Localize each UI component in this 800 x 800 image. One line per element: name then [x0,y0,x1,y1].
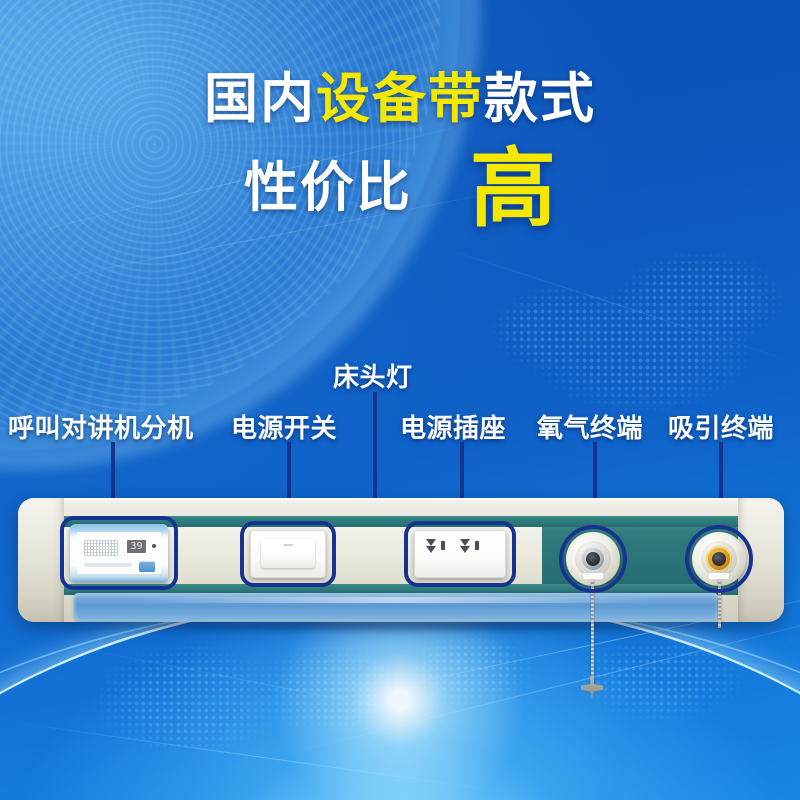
oxygen-pull-cord[interactable] [591,580,594,690]
headline-part-1: 国内 [204,69,316,129]
highlight-box-power-switch [240,521,336,587]
bed-lamp-diffuser-strip[interactable] [74,593,718,621]
highlight-box-power-socket [404,521,516,587]
headline-block: 国内设备带款式 性价比高 [0,72,800,232]
callout-label-bed-lamp: 床头灯 [333,357,413,394]
headline-subtext: 性价比 [244,158,412,218]
highlight-circle-oxygen [559,525,627,593]
highlight-box-intercom [60,516,178,590]
headline-part-2: 设备带 [316,69,484,129]
banner-canvas: 国内设备带款式 性价比高 呼叫对讲机分机电源开关床头灯电源插座氧气终端吸引终端 … [0,0,800,800]
callout-label-power-switch: 电源开关 [231,408,337,445]
panel-left-end-cap [18,498,64,622]
headline-accent-word: 高 [470,141,556,237]
callout-label-nurse-call-intercom: 呼叫对讲机分机 [8,408,194,445]
callout-label-power-socket: 电源插座 [400,408,506,445]
callout-label-oxygen-terminal: 氧气终端 [537,408,643,445]
headline-line-2: 性价比高 [0,146,800,232]
headline-line-1: 国内设备带款式 [0,72,800,126]
highlight-circle-suction [685,525,753,593]
headline-part-3: 款式 [484,69,596,129]
callout-label-suction-terminal: 吸引终端 [668,408,774,445]
